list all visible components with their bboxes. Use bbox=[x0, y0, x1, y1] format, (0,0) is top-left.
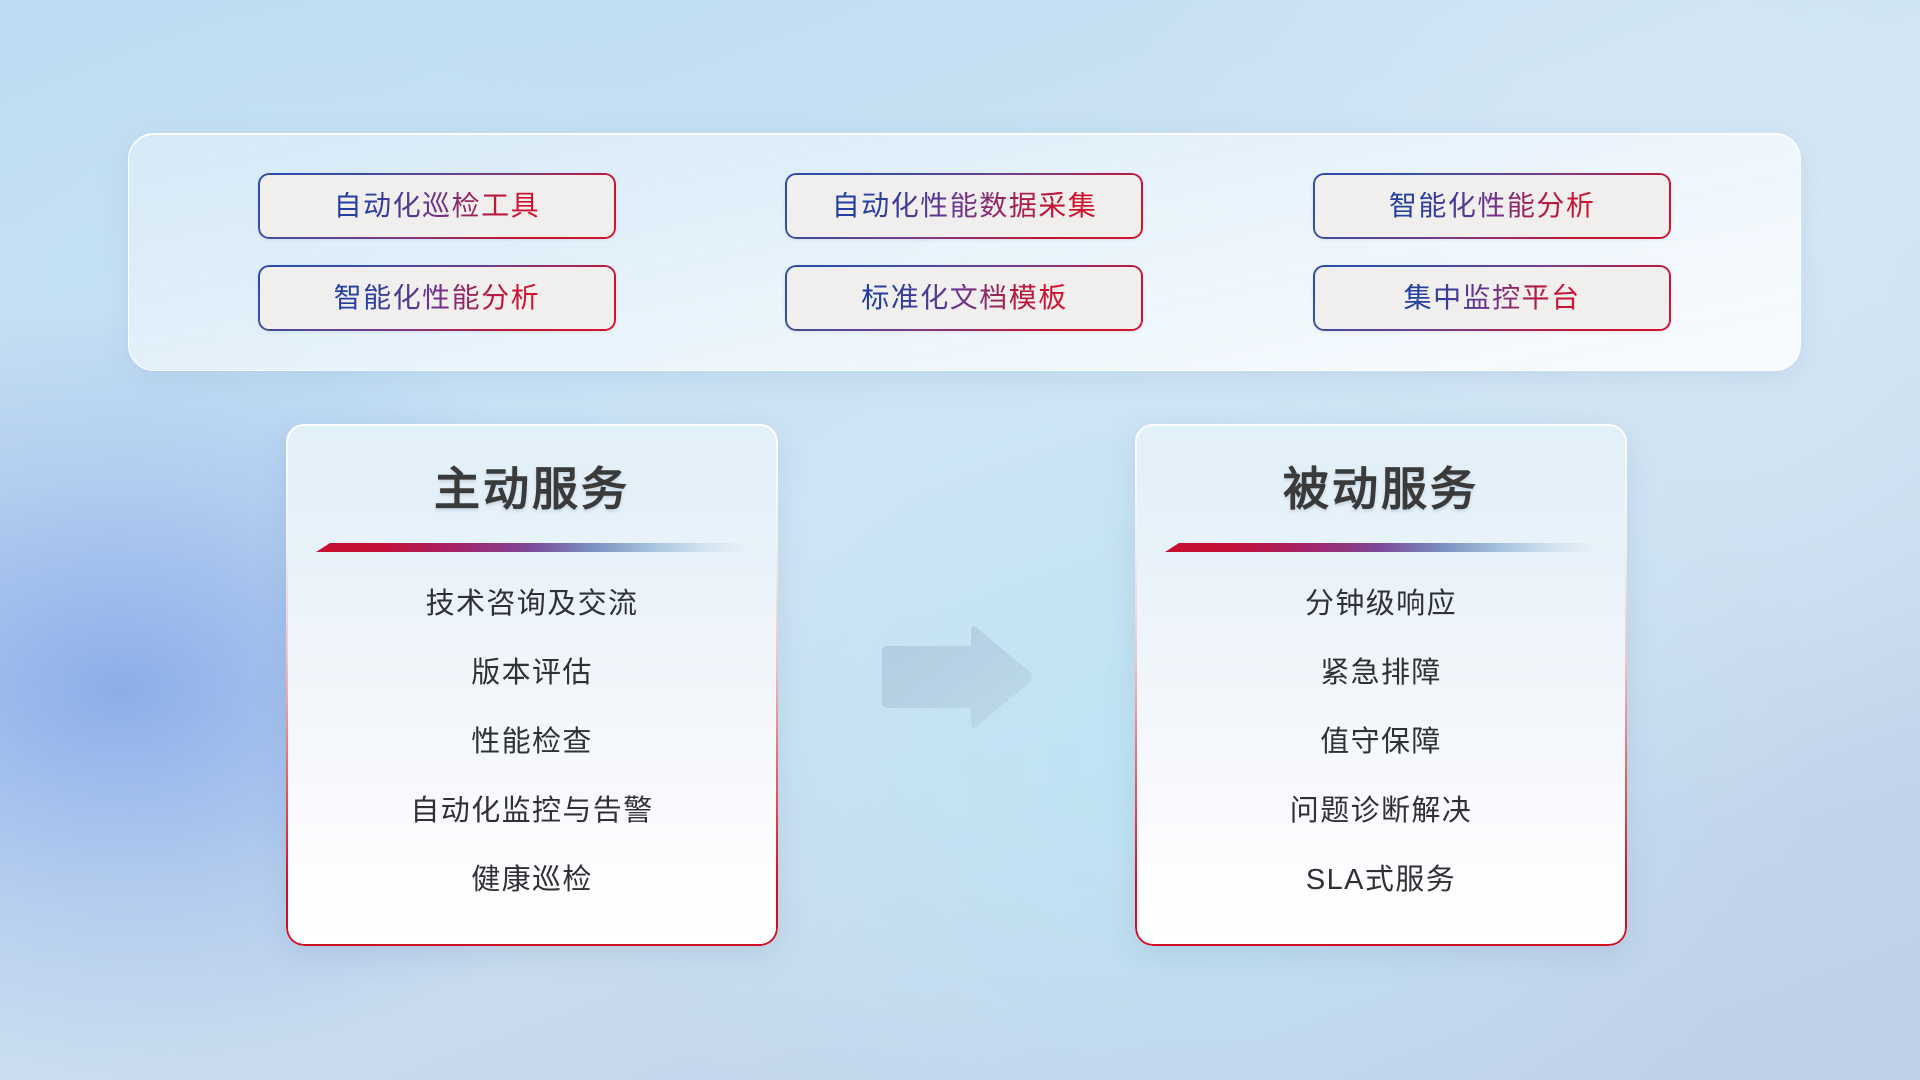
active-service-title: 主动服务 bbox=[286, 424, 778, 512]
list-item: 自动化监控与告警 bbox=[286, 797, 778, 866]
list-item: 分钟级响应 bbox=[1135, 590, 1627, 659]
list-item: SLA式服务 bbox=[1135, 866, 1627, 895]
capability-tag-label: 自动化巡检工具 bbox=[334, 192, 541, 220]
passive-service-card[interactable]: 被动服务 分钟级响应 紧急排障 值守保障 问题诊断解决 SLA式服务 bbox=[1135, 424, 1627, 946]
capability-tag-5[interactable]: 标准化文档模板 bbox=[785, 265, 1143, 331]
active-service-card[interactable]: 主动服务 技术咨询及交流 版本评估 性能检查 自动化监控与告警 健康巡检 bbox=[286, 424, 778, 946]
capability-tag-label: 智能化性能分析 bbox=[334, 284, 541, 312]
list-item: 版本评估 bbox=[286, 659, 778, 728]
list-item: 问题诊断解决 bbox=[1135, 797, 1627, 866]
capability-tags-panel: 自动化巡检工具 自动化性能数据采集 智能化性能分析 智能化性能分析 标准化文档模… bbox=[128, 133, 1801, 371]
passive-service-list: 分钟级响应 紧急排障 值守保障 问题诊断解决 SLA式服务 bbox=[1135, 552, 1627, 895]
capability-tag-2[interactable]: 自动化性能数据采集 bbox=[785, 173, 1143, 239]
arrow-right-icon bbox=[876, 622, 1036, 732]
slide-canvas: 自动化巡检工具 自动化性能数据采集 智能化性能分析 智能化性能分析 标准化文档模… bbox=[0, 0, 1920, 1080]
list-item: 值守保障 bbox=[1135, 728, 1627, 797]
list-item: 性能检查 bbox=[286, 728, 778, 797]
list-item: 技术咨询及交流 bbox=[286, 590, 778, 659]
capability-tag-label: 智能化性能分析 bbox=[1389, 192, 1596, 220]
passive-service-title: 被动服务 bbox=[1135, 424, 1627, 512]
capability-tag-6[interactable]: 集中监控平台 bbox=[1313, 265, 1671, 331]
active-service-list: 技术咨询及交流 版本评估 性能检查 自动化监控与告警 健康巡检 bbox=[286, 552, 778, 895]
capability-tag-label: 标准化文档模板 bbox=[861, 284, 1068, 312]
title-underline-rule bbox=[1165, 543, 1597, 552]
capability-tag-label: 自动化性能数据采集 bbox=[832, 192, 1098, 220]
capability-tag-3[interactable]: 智能化性能分析 bbox=[1313, 173, 1671, 239]
capability-tag-label: 集中监控平台 bbox=[1404, 284, 1581, 312]
capability-tag-1[interactable]: 自动化巡检工具 bbox=[258, 173, 616, 239]
capability-tag-4[interactable]: 智能化性能分析 bbox=[258, 265, 616, 331]
list-item: 健康巡检 bbox=[286, 866, 778, 895]
list-item: 紧急排障 bbox=[1135, 659, 1627, 728]
title-underline-rule bbox=[316, 543, 748, 552]
